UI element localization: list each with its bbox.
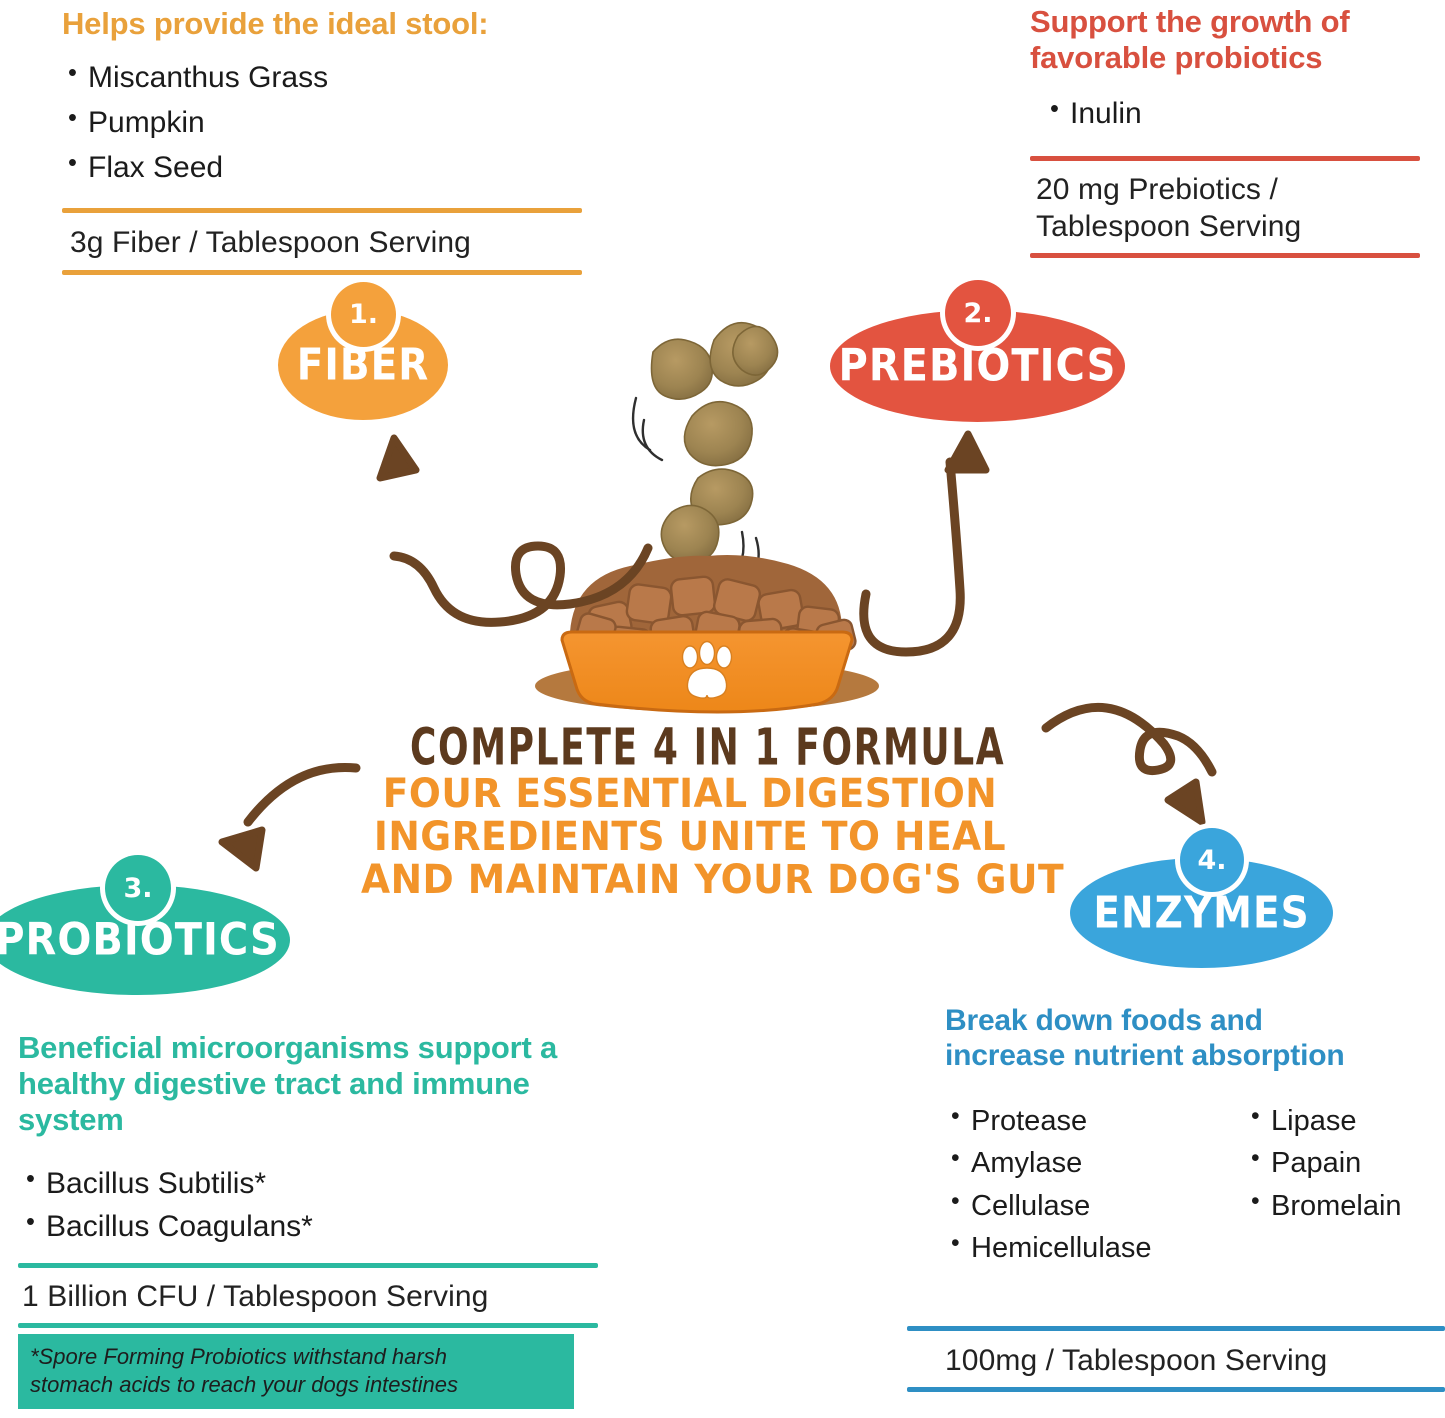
arrow-to-enzymes: [1046, 707, 1212, 822]
badge-prebiotics-label: PREBIOTICS: [839, 340, 1117, 392]
serving-line-1: 20 mg Prebiotics /: [1036, 171, 1414, 208]
serving-line-2: Tablespoon Serving: [1036, 208, 1414, 245]
footnote-line-1: *Spore Forming Probiotics withstand hars…: [30, 1343, 562, 1371]
arrow-to-probiotics: [222, 767, 356, 868]
formula-block: COMPLETE 4 IN 1 FORMULA FOUR ESSENTIAL D…: [340, 722, 1040, 903]
fiber-heading: Helps provide the ideal stool:: [62, 6, 582, 42]
badge-probiotics-number: 3.: [105, 855, 171, 921]
falling-kibble: [633, 323, 777, 580]
arrow-to-prebiotics: [864, 434, 986, 652]
formula-title: COMPLETE 4 IN 1 FORMULA: [410, 722, 970, 772]
probiotics-heading: Beneficial microorganisms support a heal…: [18, 1030, 598, 1138]
probiotics-ingredient-list: Bacillus Subtilis* Bacillus Coagulans*: [18, 1164, 598, 1247]
fiber-section: Helps provide the ideal stool: Miscanthu…: [62, 0, 582, 275]
enzymes-ingredient-lists: Protease Amylase Cellulase Hemicellulase…: [945, 1102, 1445, 1272]
fiber-ingredient-list: Miscanthus Grass Pumpkin Flax Seed: [62, 58, 582, 188]
divider-bottom: [18, 1323, 598, 1328]
formula-subtitle: FOUR ESSENTIAL DIGESTION INGREDIENTS UNI…: [361, 773, 1019, 903]
list-item: Miscanthus Grass: [62, 58, 582, 98]
motion-lines: [633, 398, 759, 580]
list-item: Inulin: [1044, 94, 1420, 134]
bowl-kibble: [570, 555, 857, 667]
prebiotics-heading: Support the growth of favorable probioti…: [1030, 4, 1420, 76]
paw-print-icon: [683, 642, 732, 699]
prebiotics-serving-text: 20 mg Prebiotics / Tablespoon Serving: [1030, 161, 1420, 253]
list-item: Bacillus Coagulans*: [20, 1207, 598, 1247]
enzymes-section: Break down foods and increase nutrient a…: [945, 1004, 1445, 1272]
formula-sub-line-3: AND MAINTAIN YOUR DOG'S GUT: [361, 859, 1019, 902]
fiber-serving-text: 3g Fiber / Tablespoon Serving: [62, 213, 582, 270]
list-item: Amylase: [945, 1144, 1245, 1183]
list-item: Pumpkin: [62, 103, 582, 143]
divider-bottom: [62, 270, 582, 275]
formula-sub-line-1: FOUR ESSENTIAL DIGESTION: [361, 773, 1019, 816]
badge-enzymes-label: ENZYMES: [1093, 888, 1309, 938]
list-item: Bacillus Subtilis*: [20, 1164, 598, 1204]
probiotics-section: Beneficial microorganisms support a heal…: [18, 1030, 598, 1409]
kibble-piece: [652, 339, 713, 399]
kibble-piece: [691, 469, 753, 525]
list-item: Bromelain: [1245, 1187, 1402, 1226]
badge-fiber-number: 1.: [331, 282, 396, 347]
badge-fiber-label: FIBER: [297, 340, 430, 390]
enzymes-list-left: Protease Amylase Cellulase Hemicellulase: [945, 1102, 1245, 1272]
badge-enzymes-number: 4.: [1180, 828, 1244, 892]
divider-bottom: [1030, 253, 1420, 258]
probiotics-serving-text: 1 Billion CFU / Tablespoon Serving: [18, 1268, 598, 1323]
kibble-piece: [661, 505, 718, 562]
list-item: Cellulase: [945, 1187, 1245, 1226]
badge-prebiotics-number: 2.: [945, 280, 1011, 346]
kibble-piece: [710, 323, 777, 386]
enzymes-list-right: Lipase Papain Bromelain: [1245, 1102, 1402, 1272]
badge-probiotics-label: PROBIOTICS: [0, 914, 280, 966]
formula-sub-line-2: INGREDIENTS UNITE TO HEAL: [361, 816, 1019, 859]
infographic-page: Helps provide the ideal stool: Miscanthu…: [0, 0, 1445, 1418]
enzymes-serving-callout: 100mg / Tablespoon Serving: [907, 1326, 1445, 1392]
arrow-to-fiber: [380, 438, 648, 622]
prebiotics-section: Support the growth of favorable probioti…: [1030, 0, 1420, 258]
list-item: Lipase: [1245, 1102, 1402, 1141]
prebiotics-serving-callout: 20 mg Prebiotics / Tablespoon Serving: [1030, 156, 1420, 258]
list-item: Hemicellulase: [945, 1229, 1245, 1268]
enzymes-heading: Break down foods and increase nutrient a…: [945, 1004, 1365, 1074]
list-item: Protease: [945, 1102, 1245, 1141]
fiber-serving-callout: 3g Fiber / Tablespoon Serving: [62, 208, 582, 275]
probiotics-footnote: *Spore Forming Probiotics withstand hars…: [18, 1334, 574, 1409]
footnote-line-2: stomach acids to reach your dogs intesti…: [30, 1371, 562, 1399]
divider-bottom: [907, 1387, 1445, 1392]
kibble-piece: [684, 402, 752, 466]
dog-bowl: [535, 555, 879, 712]
enzymes-serving-text: 100mg / Tablespoon Serving: [907, 1331, 1445, 1387]
prebiotics-ingredient-list: Inulin: [1030, 94, 1420, 134]
probiotics-serving-callout: 1 Billion CFU / Tablespoon Serving: [18, 1263, 598, 1328]
list-item: Papain: [1245, 1144, 1402, 1183]
list-item: Flax Seed: [62, 148, 582, 188]
